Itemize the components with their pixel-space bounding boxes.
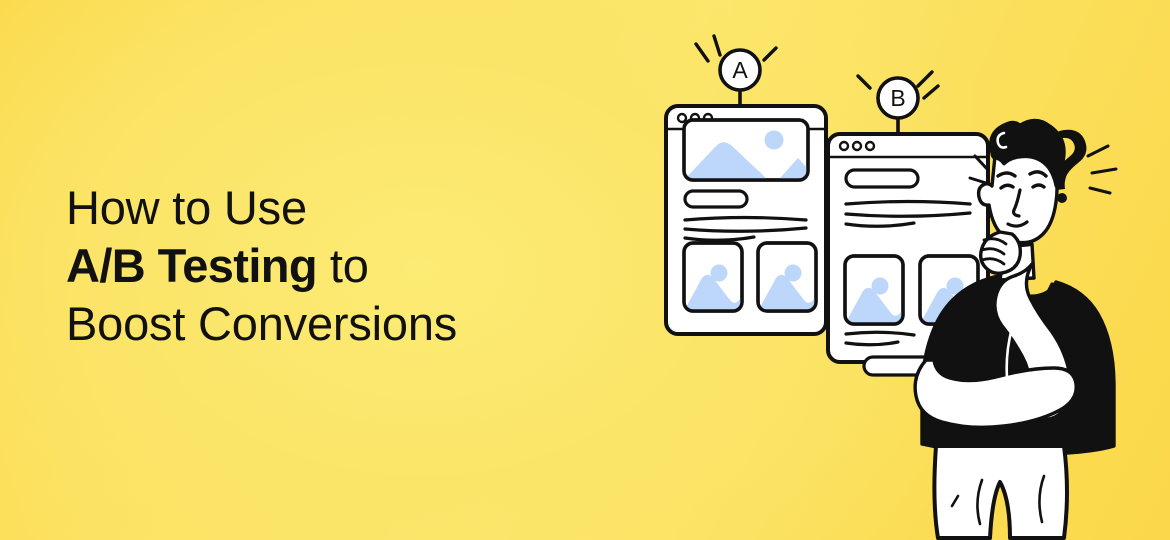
variant-b-button-top <box>846 170 918 187</box>
eye-right <box>1033 185 1044 187</box>
shorts <box>934 446 1067 538</box>
page-title: How to Use A/B Testing to Boost Conversi… <box>66 179 457 353</box>
variant-a-thumbnail-1 <box>684 243 742 311</box>
variant-a-hero-image <box>684 120 808 181</box>
headline-emphasis: A/B Testing <box>66 239 317 292</box>
question-mark-sparkle-icon <box>1088 146 1116 193</box>
banner-canvas: How to Use A/B Testing to Boost Conversi… <box>0 0 1170 540</box>
headline-line-2: A/B Testing to <box>66 237 457 295</box>
variant-a-thumbnail-2 <box>758 243 816 311</box>
variant-a-group: A <box>666 36 826 334</box>
variant-b-thumbnail-1 <box>845 256 903 324</box>
ab-testing-illustration: A <box>640 28 1170 528</box>
headline-line-3: Boost Conversions <box>66 295 457 353</box>
variant-b-window-dots-icon <box>840 142 874 150</box>
variant-a-button <box>685 191 747 207</box>
variant-b-badge-label: B <box>890 85 905 111</box>
headline-line-2-suffix: to <box>317 239 369 292</box>
headline-line-1: How to Use <box>66 179 457 237</box>
variant-a-badge-label: A <box>732 57 748 83</box>
